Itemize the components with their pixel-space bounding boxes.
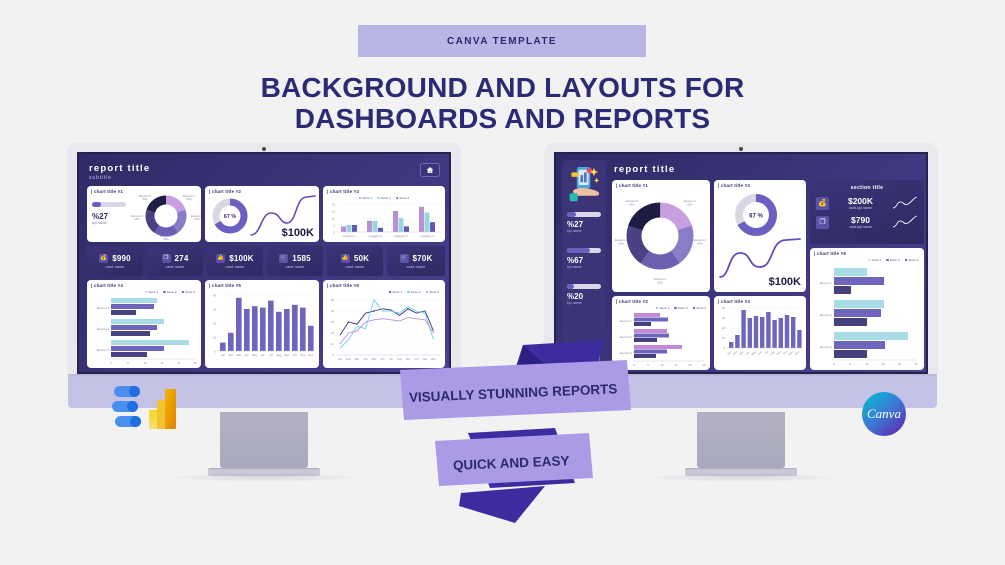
left-chart-card-5[interactable]: | chart title #5 4030 2010 0	[205, 280, 319, 368]
svg-text:Category 4: Category 4	[420, 234, 434, 238]
left-chart-card-3[interactable]: | chart title #3 Serie 1 Serie 2 Serie 3	[323, 186, 445, 242]
svg-text:Apr: Apr	[245, 353, 249, 357]
svg-text:0: 0	[110, 361, 112, 365]
kpi-card[interactable]: 👍 $100K card name	[207, 246, 263, 276]
right-monitor-neck	[697, 412, 785, 468]
section-row-label: card-kpi name	[834, 225, 887, 229]
kpi-card-row: ❐ 274	[162, 254, 189, 263]
kpi-card-row: 🛒 1585	[279, 254, 311, 263]
right-kpi-3: %20 kpi name	[567, 284, 601, 305]
svg-text:Element 1: Element 1	[620, 319, 633, 323]
gauge-chart-r3: 67 %	[728, 190, 784, 240]
svg-text:Element 5: Element 5	[626, 199, 639, 203]
ribbon-2-tail	[459, 486, 545, 523]
svg-text:Element 3: Element 3	[820, 313, 833, 317]
svg-text:Element 1: Element 1	[684, 199, 697, 203]
sparkline-icon	[892, 215, 918, 229]
section-row-2: ❐ $790 card-kpi name	[816, 215, 918, 229]
webcam-icon	[262, 147, 266, 151]
svg-text:20: 20	[178, 361, 181, 365]
svg-text:Element 2: Element 2	[97, 327, 110, 331]
copy-icon: ❐	[162, 254, 171, 263]
svg-text:Nov: Nov	[300, 353, 305, 357]
legend-item-serie1: Serie 1	[656, 306, 669, 310]
svg-text:0: 0	[215, 349, 217, 353]
legend-item-serie3: Serie 3	[693, 306, 706, 310]
kpi-card-label: card name	[286, 265, 305, 269]
kpi-card[interactable]: 💰 $990 card name	[87, 246, 143, 276]
poster-canvas: CANVA TEMPLATE BACKGROUND AND LAYOUTS FO…	[0, 0, 1005, 565]
svg-text:20: 20	[689, 363, 692, 367]
svg-text:Aug: Aug	[276, 353, 281, 357]
svg-text:10: 10	[144, 361, 147, 365]
svg-text:Element 2: Element 2	[694, 238, 707, 242]
svg-text:Apr: Apr	[745, 350, 751, 356]
bar-chart-3: 2015 105 0	[325, 201, 443, 241]
donut-chart-r1: Element 120% Element 220% Element 320% E…	[612, 188, 708, 286]
svg-text:20: 20	[898, 362, 901, 366]
svg-text:20: 20	[331, 331, 334, 335]
svg-text:10: 10	[661, 363, 664, 367]
right-section-card[interactable]: section title 💰 $200K card-kpi name ❐	[810, 180, 924, 244]
left-home-button[interactable]	[420, 163, 440, 177]
svg-text:20%: 20%	[163, 237, 169, 240]
kpi-progress-bar	[567, 248, 601, 253]
kpi-card-row: 💰 $990	[99, 254, 131, 263]
svg-text:5: 5	[127, 361, 129, 365]
kpi-card[interactable]: 🛒 1585 card name	[267, 246, 323, 276]
hand-holding-phone-icon	[566, 163, 602, 207]
svg-text:Feb: Feb	[732, 350, 738, 356]
kpi-value: %20	[567, 292, 601, 301]
left-kpi-progress	[92, 202, 126, 207]
bar-chart-5: 4030 2010 0	[205, 289, 317, 365]
svg-text:Category 3: Category 3	[394, 234, 408, 238]
left-chart6-legend: Serie 1 Serie 2 Serie 3	[323, 290, 445, 294]
kpi-card-value: $990	[112, 254, 131, 263]
right-chart4-title: | chart title #4	[714, 296, 806, 304]
svg-text:0: 0	[833, 362, 835, 366]
svg-text:Jan: Jan	[726, 350, 732, 356]
legend-item-serie2: Serie 2	[377, 196, 390, 200]
svg-text:Apr: Apr	[363, 357, 367, 361]
svg-text:0: 0	[724, 346, 726, 350]
svg-text:20%: 20%	[142, 197, 148, 201]
legend-item-serie1: Serie 1	[359, 196, 372, 200]
svg-text:Feb: Feb	[346, 357, 351, 361]
svg-text:20%: 20%	[134, 217, 140, 221]
svg-text:Element 3: Element 3	[654, 277, 667, 281]
powerbi-logo	[112, 384, 182, 432]
svg-text:Dec: Dec	[308, 353, 313, 357]
left-monitor-neck	[220, 412, 308, 468]
svg-text:20: 20	[722, 326, 725, 330]
svg-text:Element 1: Element 1	[820, 281, 833, 285]
left-report-title: report title	[89, 163, 150, 174]
svg-text:Sep: Sep	[284, 353, 289, 357]
thumbs-up-icon: 👍	[341, 254, 350, 263]
section-row-value: $200K	[834, 196, 887, 206]
kpi-card[interactable]: 👍 50K card name	[327, 246, 383, 276]
svg-text:10: 10	[722, 336, 725, 340]
kpi-card-value: 274	[175, 254, 189, 263]
svg-text:25: 25	[915, 362, 918, 366]
kpi-label: kpi name	[567, 229, 601, 233]
svg-text:Dec: Dec	[794, 349, 801, 356]
svg-text:Mar: Mar	[738, 350, 744, 356]
svg-text:20: 20	[213, 321, 216, 325]
svg-text:15: 15	[882, 362, 885, 366]
section-row-1: 💰 $200K card-kpi name	[816, 196, 918, 210]
svg-text:20%: 20%	[194, 217, 200, 221]
right-chart5-legend: Serie 1 Serie 2 Serie 3	[810, 258, 924, 262]
kpi-card-label: card name	[226, 265, 245, 269]
svg-text:15: 15	[161, 361, 164, 365]
canva-template-badge: CANVA TEMPLATE	[358, 25, 646, 57]
kpi-card-value: $100K	[229, 254, 254, 263]
legend-item-serie1: Serie 1	[868, 258, 881, 262]
svg-text:Element 4: Element 4	[615, 238, 628, 242]
svg-text:25: 25	[703, 363, 706, 367]
svg-text:30: 30	[213, 307, 216, 311]
legend-item-serie1: Serie 1	[389, 290, 402, 294]
right-kpi-2: %67 kpi name	[567, 248, 601, 269]
svg-text:Category 2: Category 2	[368, 234, 382, 238]
svg-text:40: 40	[722, 306, 725, 310]
svg-text:15: 15	[675, 363, 678, 367]
home-icon	[426, 166, 434, 174]
right-kpi-1: %27 kpi name	[567, 212, 601, 233]
svg-text:30: 30	[722, 316, 725, 320]
bar-chart-r4: 4030 2010 0	[714, 304, 804, 368]
thumbs-up-icon: 👍	[216, 254, 225, 263]
svg-text:Nov: Nov	[788, 349, 795, 356]
left-kpi-label: kpi name	[92, 221, 126, 225]
svg-text:20%: 20%	[657, 280, 663, 284]
svg-text:Oct: Oct	[782, 350, 788, 356]
right-gauge-label: 67 %	[749, 213, 763, 219]
svg-text:Category 1: Category 1	[342, 234, 356, 238]
svg-text:Mar: Mar	[355, 357, 360, 361]
right-chart2-legend: Serie 1 Serie 2 Serie 3	[612, 306, 710, 310]
kpi-card-label: card name	[407, 265, 426, 269]
svg-text:5: 5	[850, 362, 852, 366]
page-title-line1: BACKGROUND AND LAYOUTS FOR	[261, 72, 745, 103]
svg-text:0: 0	[333, 353, 335, 357]
ribbon-banners: VISUALLY STUNNING REPORTS QUICK AND EASY	[395, 338, 655, 518]
kpi-card-label: card name	[166, 265, 185, 269]
legend-item-serie2: Serie 2	[163, 290, 176, 294]
kpi-card-value: 50K	[354, 254, 369, 263]
badge-label: CANVA TEMPLATE	[447, 36, 557, 47]
kpi-card-value: 1585	[292, 254, 311, 263]
hbar-chart-r5: Element 1 Element 3 Element 3	[810, 264, 922, 368]
svg-text:10: 10	[332, 216, 335, 220]
legend-item-serie3: Serie 3	[426, 290, 439, 294]
right-chart-card-3[interactable]: | chart title #3 67 % $100K	[714, 180, 806, 292]
legend-item-serie3: Serie 3	[182, 290, 195, 294]
cart-icon: 🛒	[279, 254, 288, 263]
left-report-subtitle: subtitle	[89, 175, 112, 181]
svg-text:Element 1: Element 1	[97, 306, 110, 310]
svg-text:May: May	[252, 353, 258, 357]
kpi-card-row: 👍 $100K	[216, 254, 254, 263]
right-chart1-title: | chart title #1	[612, 180, 710, 188]
svg-text:Mar: Mar	[236, 353, 241, 357]
svg-text:Sep: Sep	[775, 350, 782, 357]
svg-text:20%: 20%	[697, 241, 703, 245]
left-chart4-legend: Serie 1 Serie 2 Serie 3	[87, 290, 201, 294]
left-chart2-value: $100K	[282, 227, 314, 239]
kpi-card[interactable]: ❐ 274 card name	[147, 246, 203, 276]
left-chart4-title: | chart title #4	[87, 280, 201, 288]
kpi-value: %27	[567, 220, 601, 229]
kpi-card-row: 👍 50K	[341, 254, 369, 263]
money-bag-icon: 💰	[99, 254, 108, 263]
left-chart5-title: | chart title #5	[205, 280, 319, 288]
sparkline-icon	[892, 196, 918, 210]
svg-text:Jul: Jul	[269, 353, 273, 357]
section-row-value: $790	[834, 215, 887, 225]
kpi-card-label: card name	[106, 265, 125, 269]
kpi-label: kpi name	[567, 301, 601, 305]
svg-text:Jan: Jan	[221, 353, 226, 357]
legend-item-serie2: Serie 2	[407, 290, 420, 294]
svg-text:Feb: Feb	[228, 353, 233, 357]
svg-text:40: 40	[213, 293, 216, 297]
svg-text:Oct: Oct	[293, 353, 297, 357]
left-chart3-legend: Serie 1 Serie 2 Serie 3	[323, 196, 445, 200]
copy-icon: ❐	[816, 216, 829, 229]
left-kpi-card-row: 💰 $990 card name ❐ 274 card name	[87, 246, 445, 276]
svg-text:20%: 20%	[618, 241, 624, 245]
legend-item-serie2: Serie 2	[674, 306, 687, 310]
right-report-title: report title	[614, 164, 675, 175]
right-chart5-title: | chart title #5	[810, 248, 924, 256]
webcam-icon	[739, 147, 743, 151]
legend-item-serie3: Serie 3	[905, 258, 918, 262]
right-chart3-value: $100K	[769, 276, 801, 288]
svg-text:10: 10	[865, 362, 868, 366]
money-bag-icon: 💰	[816, 197, 829, 210]
svg-text:20%: 20%	[629, 202, 635, 206]
page-title: BACKGROUND AND LAYOUTS FOR DASHBOARDS AN…	[0, 72, 1005, 135]
svg-text:Aug: Aug	[769, 350, 776, 357]
svg-text:20: 20	[332, 202, 335, 206]
left-kpi-value: %27	[92, 212, 126, 221]
svg-text:5: 5	[334, 223, 336, 227]
ribbon-svg	[395, 338, 655, 523]
left-chart3-title: | chart title #3	[323, 186, 445, 194]
hbar-chart-4: Element 1 Element 2 Element 3	[87, 295, 199, 367]
svg-text:0: 0	[334, 230, 336, 234]
svg-text:Jan: Jan	[338, 357, 343, 361]
svg-text:Element 3: Element 3	[820, 345, 833, 349]
svg-text:20%: 20%	[186, 197, 192, 201]
svg-text:20%: 20%	[687, 202, 693, 206]
svg-text:40: 40	[331, 309, 334, 313]
right-monitor-shadow	[642, 473, 842, 482]
svg-text:10: 10	[213, 335, 216, 339]
right-chart2-title: | chart title #2	[612, 296, 710, 304]
svg-text:10: 10	[331, 342, 334, 346]
canva-logo-label: Canva	[867, 406, 901, 422]
canva-logo: Canva	[862, 392, 906, 436]
kpi-card-row: 🛒 $70K	[400, 254, 433, 263]
section-title: section title	[816, 185, 918, 191]
svg-text:Jun: Jun	[757, 350, 763, 356]
kpi-progress-bar	[567, 284, 601, 289]
legend-item-serie2: Serie 2	[886, 258, 899, 262]
donut-chart-1: Element 1 20% Element 2 20% Element 3 20…	[131, 190, 201, 240]
left-chart-card-1[interactable]: | chart title #1 %27 kpi name	[87, 186, 201, 242]
svg-text:50: 50	[331, 298, 334, 302]
svg-text:Jun: Jun	[261, 353, 266, 357]
svg-text:Jul: Jul	[764, 350, 770, 356]
svg-text:25: 25	[194, 361, 197, 365]
legend-item-serie3: Serie 3	[396, 196, 409, 200]
left-gauge-label: 67 %	[224, 214, 236, 220]
powerbi-bars-icon	[149, 389, 176, 429]
svg-text:May: May	[371, 357, 377, 361]
kpi-value: %67	[567, 256, 601, 265]
kpi-progress-bar	[567, 212, 601, 217]
left-chart-card-2[interactable]: | chart title #2 67 % $100K	[205, 186, 319, 242]
svg-text:Element 3: Element 3	[97, 348, 110, 352]
svg-text:30: 30	[331, 320, 334, 324]
svg-text:Jun: Jun	[380, 357, 385, 361]
gauge-chart-2: 67 %	[208, 195, 252, 237]
legend-item-serie1: Serie 1	[145, 290, 158, 294]
kpi-label: kpi name	[567, 265, 601, 269]
kpi-card-value: $70K	[413, 254, 433, 263]
svg-text:Jul: Jul	[389, 357, 393, 361]
svg-text:May: May	[750, 349, 757, 356]
left-chart-card-4[interactable]: | chart title #4 Serie 1 Serie 2 Serie 3…	[87, 280, 201, 368]
kpi-card[interactable]: 🛒 $70K card name	[387, 246, 445, 276]
kpi-card-label: card name	[346, 265, 365, 269]
svg-text:15: 15	[332, 209, 335, 213]
powerbi-toggles-icon	[112, 386, 141, 427]
page-title-line2: DASHBOARDS AND REPORTS	[0, 103, 1005, 134]
right-chart-card-4[interactable]: | chart title #4 4030 2010 0	[714, 296, 806, 370]
left-chart6-title: | chart title #6	[323, 280, 445, 288]
right-chart-card-1[interactable]: | chart title #1 Element 120% Element 22…	[612, 180, 710, 292]
cart-icon: 🛒	[400, 254, 409, 263]
left-monitor-shadow	[165, 473, 365, 482]
right-chart3-title: | chart title #3	[714, 180, 806, 188]
section-row-label: card-kpi name	[834, 206, 887, 210]
right-chart-card-5[interactable]: | chart title #5 Serie 1 Serie 2 Serie 3…	[810, 248, 924, 370]
